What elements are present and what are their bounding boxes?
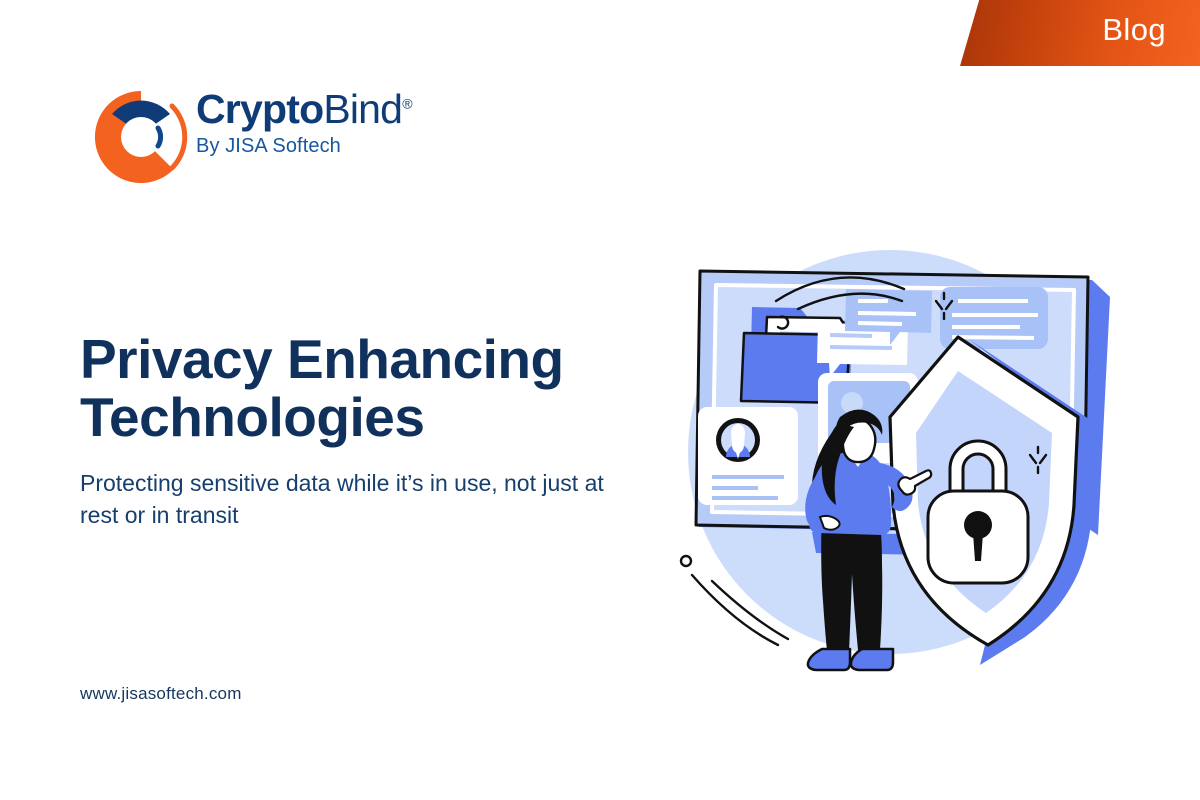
brand-tagline: By JISA Softech — [196, 135, 458, 158]
wordmark-crypto: Crypto — [196, 86, 323, 132]
blog-ribbon: Blog — [960, 0, 1200, 66]
avatar-icon — [716, 418, 760, 462]
page-title-line-1: Privacy Enhancing — [80, 328, 564, 390]
blog-ribbon-label: Blog — [1102, 14, 1166, 45]
website-url[interactable]: www.jisasoftech.com — [80, 684, 242, 704]
cryptobind-circle-logo-icon — [88, 84, 194, 190]
page-subtitle: Protecting sensitive data while it’s in … — [80, 467, 640, 532]
hero-text-block: Privacy EnhancingTechnologies Protecting… — [80, 330, 670, 532]
poster-canvas: Blog CryptoBind® By JISA Softech — [0, 0, 1200, 800]
data-privacy-shield-illustration — [640, 205, 1130, 695]
wordmark-bind: Bind — [323, 86, 402, 132]
brand-logo[interactable]: CryptoBind® By JISA Softech — [88, 84, 458, 199]
page-title: Privacy EnhancingTechnologies — [80, 330, 670, 447]
wordmark-line: CryptoBind® — [196, 88, 458, 131]
registered-mark-icon: ® — [402, 95, 412, 111]
profile-card — [698, 407, 798, 505]
page-title-line-2: Technologies — [80, 386, 424, 448]
brand-wordmark: CryptoBind® By JISA Softech — [196, 88, 458, 158]
